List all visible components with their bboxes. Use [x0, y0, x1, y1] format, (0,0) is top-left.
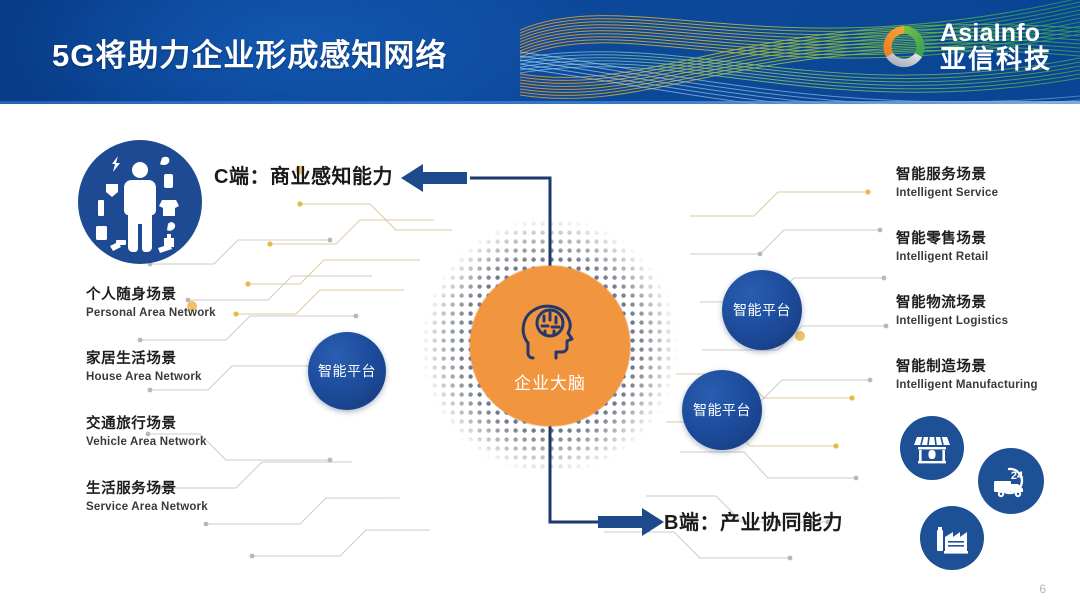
connector-consumer	[470, 178, 550, 266]
page-title: 5G将助力企业形成感知网络	[52, 30, 447, 75]
platform-label: 智能平台	[693, 400, 751, 420]
delivery-24h-icon-circle: 24	[978, 448, 1044, 514]
scenario-label-en: Service Area Network	[86, 500, 208, 516]
platform-label: 智能平台	[733, 300, 791, 320]
scenario-intelligent-service: 智能服务场景 Intelligent Service	[896, 166, 998, 201]
factory-icon	[932, 518, 972, 558]
scenario-house-area-network: 家居生活场景 House Area Network	[86, 350, 202, 385]
business-end-label: B端：产业协同能力	[664, 506, 843, 535]
asiainfo-swirl-logo-icon	[878, 21, 930, 73]
scenario-service-area-network: 生活服务场景 Service Area Network	[86, 480, 208, 515]
scenario-personal-area-network: 个人随身场景 Personal Area Network	[86, 286, 216, 321]
factory-icon-circle	[920, 506, 984, 570]
scenario-label-en: Vehicle Area Network	[86, 435, 207, 451]
storefront-icon	[912, 428, 952, 468]
scenario-label-cn: 智能物流场景	[896, 294, 1008, 314]
logo-name-cn: 亚信科技	[940, 46, 1052, 73]
scenario-label-en: Intelligent Logistics	[896, 314, 1008, 330]
storefront-icon-circle	[900, 416, 964, 480]
page-number: 6	[1039, 582, 1046, 596]
diagram-area: 智能平台 智能平台 智能平台 企业大脑 C端：商业感知能力 B端：产业协同能力	[0, 104, 1080, 608]
scenario-label-cn: 交通旅行场景	[86, 415, 207, 435]
platform-node-top-right[interactable]: 智能平台	[722, 270, 802, 350]
scenario-label-cn: 智能服务场景	[896, 166, 998, 186]
platform-node-left[interactable]: 智能平台	[308, 332, 386, 410]
scenario-label-cn: 生活服务场景	[86, 480, 208, 500]
scenario-intelligent-logistics: 智能物流场景 Intelligent Logistics	[896, 294, 1008, 329]
enterprise-brain-label: 企业大脑	[514, 369, 586, 394]
scenario-label-en: Intelligent Service	[896, 186, 998, 202]
consumer-end-label: C端：商业感知能力	[214, 160, 393, 189]
scenario-intelligent-manufacturing: 智能制造场景 Intelligent Manufacturing	[896, 358, 1038, 393]
scenario-label-en: House Area Network	[86, 370, 202, 386]
brain-head-icon	[514, 299, 586, 365]
svg-text:24: 24	[1011, 470, 1024, 482]
brand-logo: AsiaInfo 亚信科技	[878, 20, 1052, 74]
scenario-intelligent-retail: 智能零售场景 Intelligent Retail	[896, 230, 988, 265]
scenario-label-en: Personal Area Network	[86, 306, 216, 322]
scenario-label-en: Intelligent Manufacturing	[896, 378, 1038, 394]
arrow-right-icon	[598, 508, 664, 536]
slide-header: 5G将助力企业形成感知网络	[0, 0, 1080, 104]
24h-delivery-truck-icon: 24	[989, 459, 1033, 503]
logo-wordmark: AsiaInfo 亚信科技	[940, 20, 1052, 74]
arrow-left-icon	[401, 164, 467, 192]
human-body-wearables-icon	[78, 140, 202, 264]
scenario-label-cn: 智能制造场景	[896, 358, 1038, 378]
slide-canvas: 5G将助力企业形成感知网络	[0, 0, 1080, 608]
personal-network-icon-circle	[78, 140, 202, 264]
scenario-label-en: Intelligent Retail	[896, 250, 988, 266]
scenario-vehicle-area-network: 交通旅行场景 Vehicle Area Network	[86, 415, 207, 450]
platform-node-bottom-right[interactable]: 智能平台	[682, 370, 762, 450]
scenario-label-cn: 个人随身场景	[86, 286, 216, 306]
scenario-label-cn: 家居生活场景	[86, 350, 202, 370]
enterprise-brain-node[interactable]: 企业大脑	[470, 266, 630, 426]
scenario-label-cn: 智能零售场景	[896, 230, 988, 250]
platform-label: 智能平台	[318, 361, 376, 381]
connector-business	[550, 426, 600, 522]
logo-name-en: AsiaInfo	[940, 20, 1052, 46]
